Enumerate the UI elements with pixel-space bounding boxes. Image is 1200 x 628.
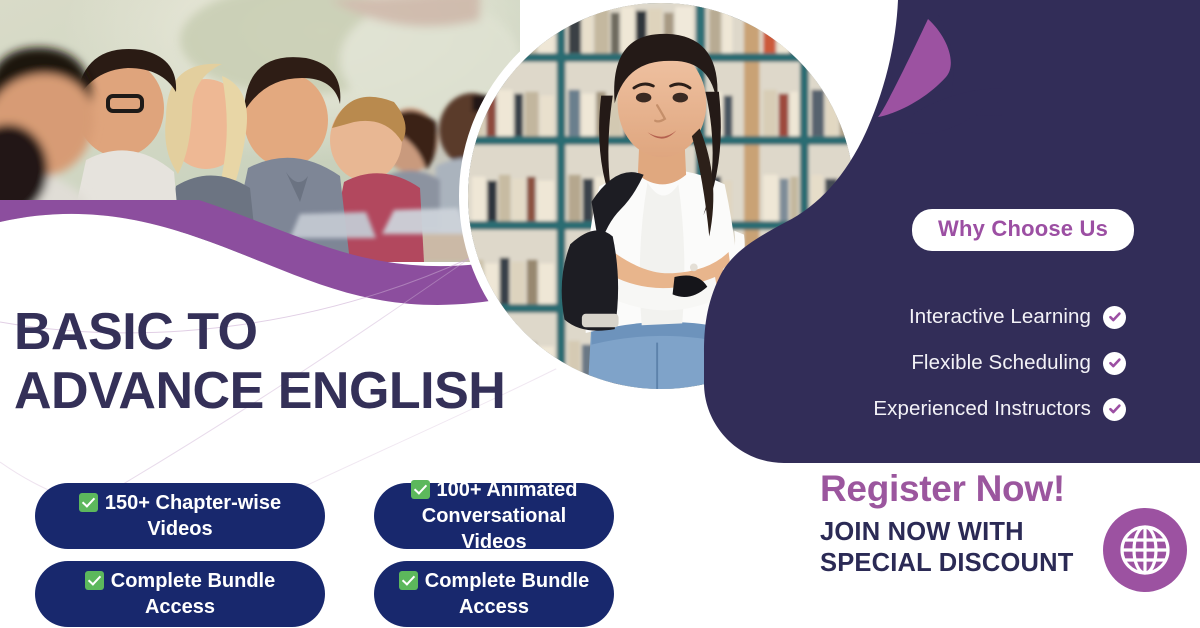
list-item: Interactive Learning [706, 302, 1126, 332]
green-check-icon [79, 493, 98, 512]
badge-line-1: 100+ Animated [437, 479, 578, 501]
green-check-icon [411, 480, 430, 499]
check-circle-icon [1103, 306, 1126, 329]
register-sub-line-2: SPECIAL DISCOUNT [820, 548, 1120, 579]
title-line-2: ADVANCE ENGLISH [14, 362, 634, 421]
title-line-1: BASIC TO [14, 303, 634, 362]
feature-badge-animated-videos[interactable]: 100+ Animated Conversational Videos [374, 483, 614, 549]
feature-badge-chapter-videos[interactable]: 150+ Chapter-wise Videos [35, 483, 325, 549]
badge-line-2: Conversational Videos [422, 505, 566, 553]
register-sub-line-1: JOIN NOW WITH [820, 517, 1120, 548]
why-choose-us-pill: Why Choose Us [912, 209, 1134, 251]
why-choose-feature-list: Interactive Learning Flexible Scheduling… [706, 302, 1126, 440]
register-subtitle: JOIN NOW WITH SPECIAL DISCOUNT [820, 517, 1120, 579]
badge-line-2: Videos [147, 518, 212, 540]
feature-label: Experienced Instructors [873, 397, 1091, 421]
check-circle-icon [1103, 398, 1126, 421]
globe-icon [1103, 508, 1187, 592]
brand-triangle-logo [866, 5, 1066, 165]
green-check-icon [85, 571, 104, 590]
badge-line-1: 150+ Chapter-wise [105, 492, 281, 514]
badge-line-2: Access [145, 596, 215, 618]
feature-badge-bundle-access-left[interactable]: Complete Bundle Access [35, 561, 325, 627]
badge-line-1: Complete Bundle [425, 570, 589, 592]
feature-badge-bundle-access-right[interactable]: Complete Bundle Access [374, 561, 614, 627]
register-cta[interactable]: Register Now! JOIN NOW WITH SPECIAL DISC… [820, 470, 1120, 579]
page-title: BASIC TO ADVANCE ENGLISH [14, 303, 634, 422]
list-item: Flexible Scheduling [706, 348, 1126, 378]
feature-badge-group: 150+ Chapter-wise Videos 100+ Animated C… [0, 480, 660, 628]
badge-line-1: Complete Bundle [111, 570, 275, 592]
feature-label: Flexible Scheduling [911, 351, 1091, 375]
register-title: Register Now! [820, 470, 1120, 509]
list-item: Experienced Instructors [706, 394, 1126, 424]
check-circle-icon [1103, 352, 1126, 375]
green-check-icon [399, 571, 418, 590]
feature-label: Interactive Learning [909, 305, 1091, 329]
promo-banner: Why Choose Us Interactive Learning Flexi… [0, 0, 1200, 628]
badge-line-2: Access [459, 596, 529, 618]
